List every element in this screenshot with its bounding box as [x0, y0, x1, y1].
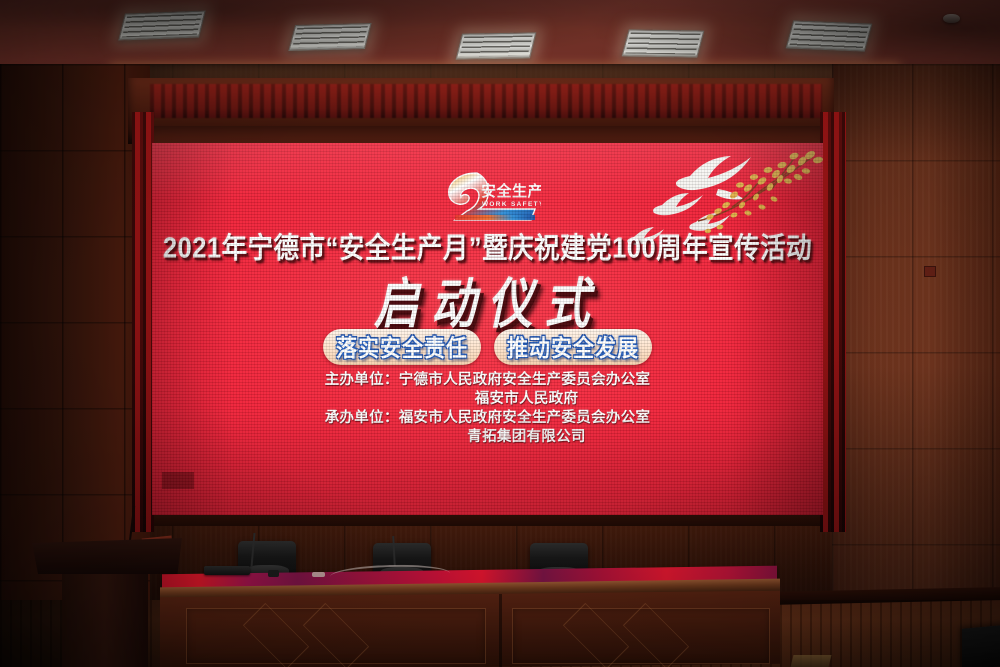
organizer-value: 福安市人民政府: [475, 391, 579, 407]
organizer-line: 主办单位：宁德市人民政府安全生产委员会办公室: [152, 371, 823, 390]
logo-chinese-text: 安全生产月: [481, 182, 541, 200]
slogan-text-2: 推动安全发展: [507, 331, 639, 364]
right-wall-shading: [832, 64, 1000, 667]
led-display-screen: 安全生产月 WORK SAFETY MONTH 2021年宁德市“安全生产月”暨…: [152, 143, 823, 515]
organizer-value: 福安市人民政府安全生产委员会办公室: [399, 410, 651, 426]
organizer-label: 承办单位：: [325, 410, 399, 426]
nameplate: [204, 566, 250, 575]
stage-curtain-left: [132, 112, 154, 532]
paper-sheet: [312, 572, 325, 577]
logo-english-text: WORK SAFETY MONTH: [482, 201, 541, 208]
slogan-text-1: 落实安全责任: [336, 331, 468, 364]
main-title: 启动仪式: [159, 261, 817, 339]
dove-icon: [676, 156, 751, 200]
screen-artifact: [162, 472, 194, 489]
stage-curtain-right: [820, 112, 846, 532]
work-safety-month-logo: 安全生产月 WORK SAFETY MONTH: [435, 165, 541, 231]
desk-object: [268, 570, 279, 577]
slogan-row: 落实安全责任 推动安全发展: [152, 329, 823, 365]
organizer-value: 青拓集团有限公司: [467, 429, 585, 445]
diamond-motif: [243, 603, 309, 667]
event-headline: 2021年宁德市“安全生产月”暨庆祝建党100周年宣传活动: [152, 225, 823, 266]
dove-icon: [653, 193, 703, 215]
slogan-pill-2: 推动安全发展: [494, 329, 652, 365]
organizer-value: 宁德市人民政府安全生产委员会办公室: [399, 372, 651, 388]
conference-hall-scene: 安全生产月 WORK SAFETY MONTH 2021年宁德市“安全生产月”暨…: [0, 0, 1000, 667]
podium-body: [62, 570, 148, 667]
diamond-motif: [303, 603, 369, 667]
table-front-panel: [512, 608, 770, 664]
slogan-pill-1: 落实安全责任: [323, 329, 481, 365]
organizer-line: 青拓集团有限公司: [152, 428, 823, 447]
floor-plate: [791, 655, 832, 667]
organizer-line: 福安市人民政府: [152, 390, 823, 409]
valance-drape: [150, 84, 822, 118]
table-seam: [499, 594, 502, 667]
organizer-block: 主办单位：宁德市人民政府安全生产委员会办公室 福安市人民政府 承办单位：福安市人…: [152, 371, 823, 447]
speaker-podium: [32, 538, 182, 574]
diamond-motif: [623, 603, 689, 667]
stage-monitor-speaker: [962, 623, 1000, 667]
table-front-panel: [186, 608, 486, 664]
organizer-line: 承办单位：福安市人民政府安全生产委员会办公室: [152, 409, 823, 428]
diamond-motif: [563, 603, 629, 667]
organizer-label: 主办单位：: [325, 372, 399, 388]
